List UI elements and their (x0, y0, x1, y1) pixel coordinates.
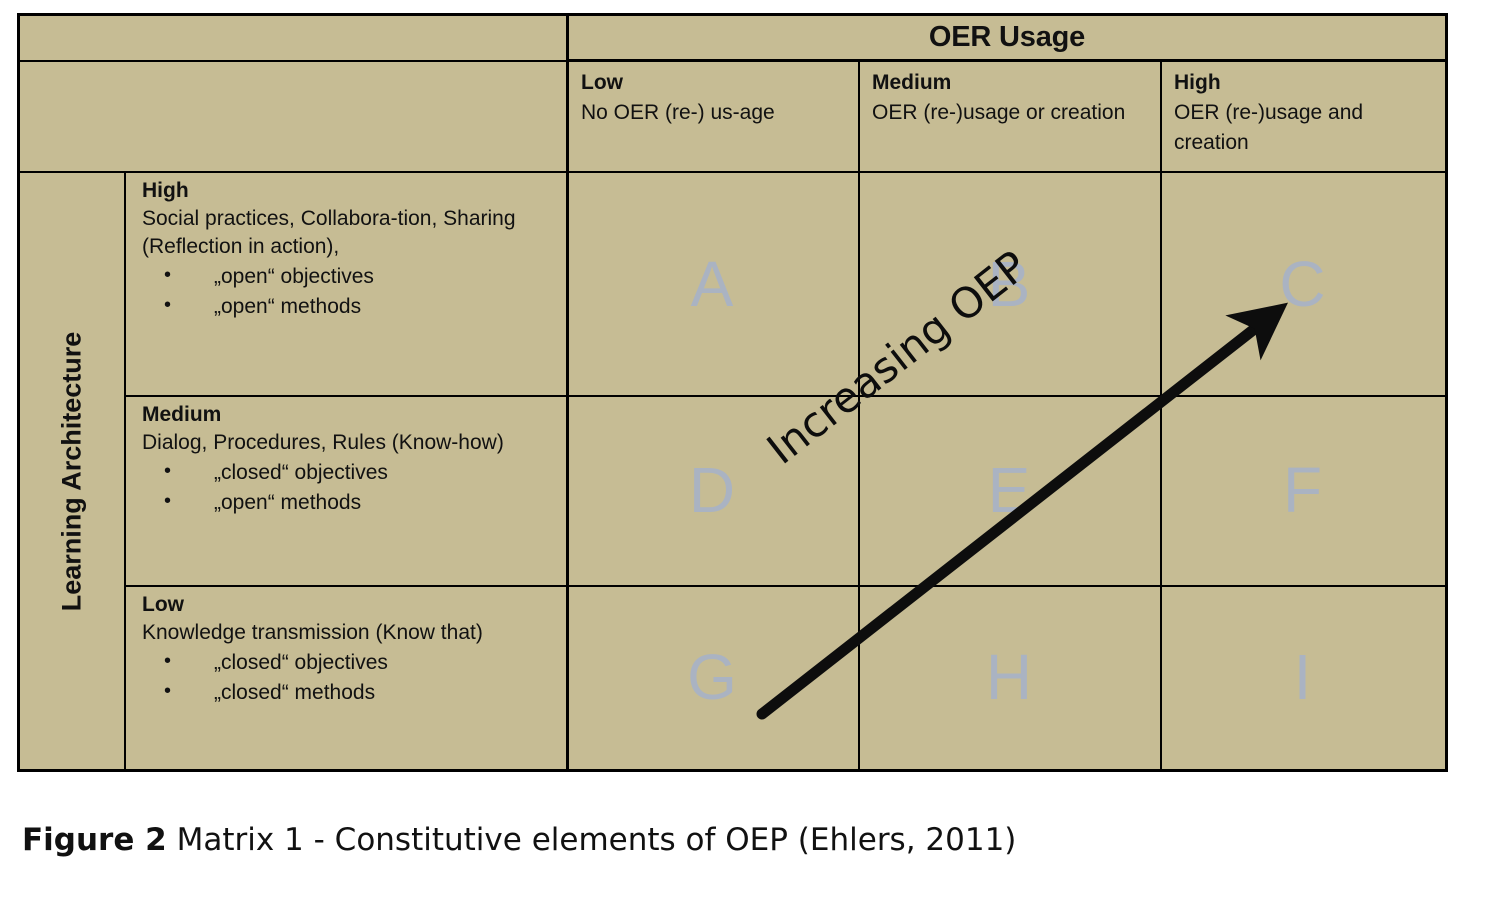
matrix-cell-letter: A (691, 252, 734, 316)
subheader-corner-blank (20, 62, 566, 173)
matrix-cell-letter: H (986, 645, 1032, 709)
oep-matrix-figure: OER Usage Low No OER (re-) us-age Medium… (17, 13, 1448, 772)
column-header-medium-description: OER (re-)usage or creation (872, 98, 1150, 128)
column-header-high-description: OER (re-)usage and creation (1174, 98, 1435, 158)
row-header-high: High Social practices, Collabora-tion, S… (126, 175, 566, 393)
row-header-low: Low Knowledge transmission (Know that) „… (126, 589, 566, 769)
row-header-medium-description: Dialog, Procedures, Rules (Know-how) (142, 429, 558, 457)
list-item: „closed“ methods (214, 679, 558, 707)
column-header-medium-level: Medium (872, 68, 1150, 98)
column-header-low-description: No OER (re-) us-age (581, 98, 848, 128)
matrix-cell-F: F (1160, 395, 1445, 585)
row-header-low-description: Knowledge transmission (Know that) (142, 619, 558, 647)
list-item: „closed“ objectives (214, 649, 558, 677)
matrix-cell-H: H (858, 585, 1160, 769)
column-header-high-level: High (1174, 68, 1435, 98)
matrix-cell-G: G (566, 585, 858, 769)
matrix-cell-E: E (858, 395, 1160, 585)
matrix-cell-I: I (1160, 585, 1445, 769)
column-header-low: Low No OER (re-) us-age (566, 62, 858, 173)
matrix-cell-letter: F (1283, 458, 1322, 522)
row-header-low-level: Low (142, 591, 558, 619)
list-item: „open“ methods (214, 293, 558, 321)
figure-caption: Figure 2 Matrix 1 - Constitutive element… (22, 822, 1016, 858)
list-item: „open“ objectives (214, 263, 558, 291)
matrix-cell-A: A (566, 173, 858, 395)
matrix-cell-C: C (1160, 173, 1445, 395)
matrix-cell-letter: E (988, 458, 1031, 522)
row-header-high-bullets: „open“ objectives „open“ methods (142, 263, 558, 321)
header-corner-blank (20, 16, 566, 62)
row-header-medium: Medium Dialog, Procedures, Rules (Know-h… (126, 399, 566, 589)
row-header-high-level: High (142, 177, 558, 205)
figure-caption-text: Matrix 1 - Constitutive elements of OEP … (167, 822, 1017, 858)
column-header-medium: Medium OER (re-)usage or creation (858, 62, 1160, 173)
matrix-cell-letter: C (1279, 252, 1325, 316)
column-axis-title: OER Usage (566, 16, 1445, 62)
list-item: „closed“ objectives (214, 459, 558, 487)
row-header-high-description: Social practices, Collabora-tion, Sharin… (142, 205, 558, 261)
matrix-cell-letter: D (689, 458, 735, 522)
row-axis-title: Learning Architecture (57, 331, 88, 611)
list-item: „open“ methods (214, 489, 558, 517)
column-header-low-level: Low (581, 68, 848, 98)
matrix-cell-letter: I (1294, 645, 1312, 709)
matrix-cell-letter: G (687, 645, 737, 709)
row-header-low-bullets: „closed“ objectives „closed“ methods (142, 649, 558, 707)
row-header-medium-bullets: „closed“ objectives „open“ methods (142, 459, 558, 517)
row-header-medium-level: Medium (142, 401, 558, 429)
figure-caption-label: Figure 2 (22, 822, 167, 858)
row-axis-title-column: Learning Architecture (20, 173, 126, 769)
column-header-high: High OER (re-)usage and creation (1160, 62, 1445, 173)
